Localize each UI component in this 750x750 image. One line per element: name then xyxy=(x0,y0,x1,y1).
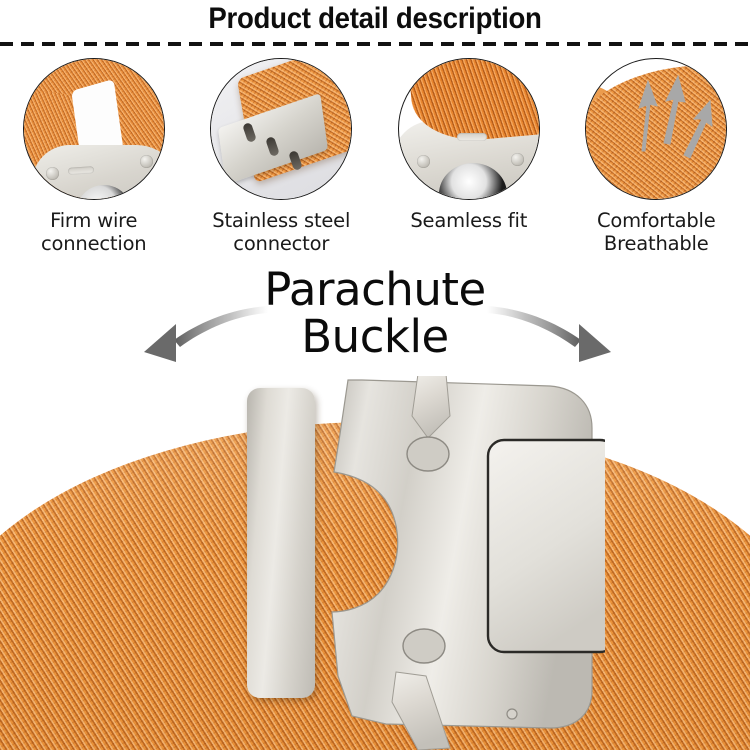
feature-image-seamless-fit xyxy=(398,58,540,200)
screw-icon xyxy=(511,153,524,166)
feature-image-firm-wire-connection xyxy=(23,58,165,200)
buckle-heading-line-2: Buckle xyxy=(0,313,750,360)
parachute-buckle xyxy=(300,376,605,750)
product-detail-page: Product detail description Firm wire con… xyxy=(0,0,750,750)
feature-caption-firm-wire-connection: Firm wire connection xyxy=(41,209,146,255)
caption-line-2: connection xyxy=(41,232,146,255)
buckle-rivet xyxy=(507,709,517,719)
feature-item-seamless-fit: Seamless fit xyxy=(375,58,563,253)
case-slot-graphic xyxy=(457,133,487,141)
hero-product-photo xyxy=(0,376,750,750)
buckle-heading-line-1: Parachute xyxy=(0,266,750,313)
screw-icon xyxy=(140,155,153,168)
header-dashed-divider xyxy=(0,42,750,46)
feature-caption-stainless-steel-connector: Stainless steel connector xyxy=(212,209,350,255)
airflow-arrows-icon xyxy=(586,59,726,199)
page-title: Product detail description xyxy=(30,2,720,36)
caption-line-1: Seamless fit xyxy=(410,209,527,232)
screw-icon xyxy=(46,167,59,180)
buckle-hole-upper xyxy=(407,437,449,471)
buckle-hole-lower xyxy=(403,629,445,663)
buckle-face-inset xyxy=(488,440,605,652)
feature-image-comfortable-breathable xyxy=(585,58,727,200)
feature-item-firm-wire-connection: Firm wire connection xyxy=(0,58,188,253)
caption-line-2: Breathable xyxy=(597,232,716,255)
caption-line-2: connector xyxy=(212,232,350,255)
caption-line-1: Comfortable xyxy=(597,209,716,232)
caption-line-1: Stainless steel xyxy=(212,209,350,232)
feature-caption-comfortable-breathable: Comfortable Breathable xyxy=(597,209,716,255)
feature-item-stainless-steel-connector: Stainless steel connector xyxy=(188,58,376,253)
caption-line-1: Firm wire xyxy=(41,209,146,232)
feature-caption-seamless-fit: Seamless fit xyxy=(410,209,527,232)
feature-row: Firm wire connection Stainless steel con… xyxy=(0,58,750,253)
feature-item-comfortable-breathable: Comfortable Breathable xyxy=(563,58,750,253)
screw-icon xyxy=(417,155,430,168)
buckle-heading: Parachute Buckle xyxy=(0,266,750,360)
feature-image-stainless-steel-connector xyxy=(210,58,352,200)
